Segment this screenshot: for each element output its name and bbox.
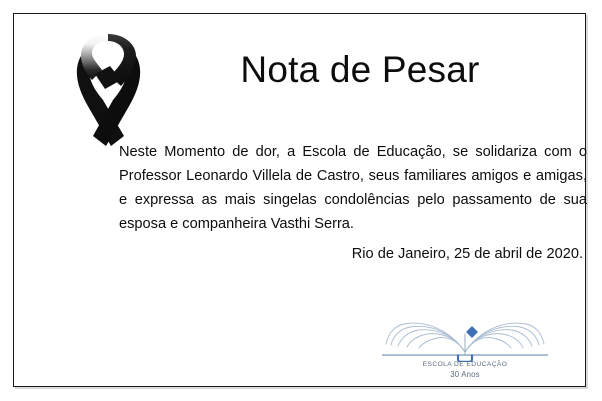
date-place-line: Rio de Janeiro, 25 de abril de 2020. xyxy=(119,242,587,266)
open-book-logo-icon xyxy=(380,314,550,362)
institution-logo: ESCOLA DE EDUCAÇÃO 30 Anos xyxy=(380,314,550,392)
notice-sheet: Nota de Pesar Neste Momento de dor, a Es… xyxy=(13,13,586,387)
logo-line-2: 30 Anos xyxy=(380,370,550,380)
notice-body-paragraph: Neste Momento de dor, a Escola de Educaç… xyxy=(119,140,587,236)
logo-wordmark: ESCOLA DE EDUCAÇÃO 30 Anos xyxy=(380,360,550,379)
page-title: Nota de Pesar xyxy=(134,50,586,91)
logo-line-1: ESCOLA DE EDUCAÇÃO xyxy=(423,361,508,368)
notice-body: Neste Momento de dor, a Escola de Educaç… xyxy=(119,140,587,236)
notice-page: Nota de Pesar Neste Momento de dor, a Es… xyxy=(0,0,602,401)
